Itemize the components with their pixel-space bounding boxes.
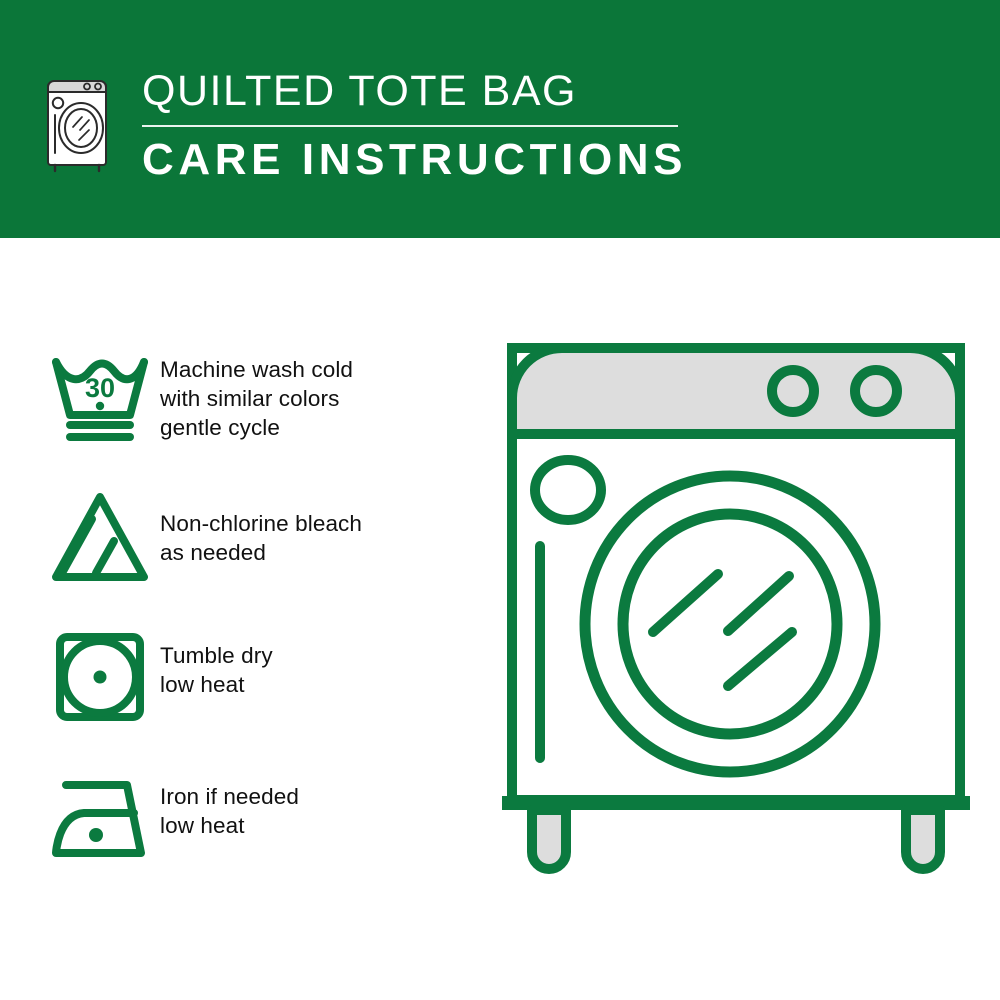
care-instructions-page: QUILTED TOTE BAG CARE INSTRUCTIONS bbox=[0, 0, 1000, 1000]
care-instruction-list: 30 Machine wash cold with similar colors… bbox=[48, 344, 478, 904]
care-text-line: Iron if needed bbox=[160, 782, 478, 811]
wash-basin-30-icon: 30 bbox=[48, 344, 160, 450]
page-title-primary: QUILTED TOTE BAG bbox=[142, 66, 687, 116]
care-item-iron: Iron if needed low heat bbox=[48, 764, 478, 904]
care-text-line: Machine wash cold bbox=[160, 355, 478, 384]
care-item-text: Non-chlorine bleach as needed bbox=[160, 484, 478, 567]
care-text-line: with similar colors bbox=[160, 384, 478, 413]
wash-temperature-label: 30 bbox=[85, 373, 115, 403]
care-text-line: Non-chlorine bleach bbox=[160, 509, 478, 538]
header-content: QUILTED TOTE BAG CARE INSTRUCTIONS bbox=[44, 66, 687, 185]
header-title-block: QUILTED TOTE BAG CARE INSTRUCTIONS bbox=[142, 66, 687, 185]
care-text-line: gentle cycle bbox=[160, 413, 478, 442]
tumble-dry-low-icon bbox=[48, 624, 160, 730]
care-text-line: Tumble dry bbox=[160, 641, 478, 670]
care-item-text: Tumble dry low heat bbox=[160, 624, 478, 699]
care-item-machine-wash: 30 Machine wash cold with similar colors… bbox=[48, 344, 478, 484]
iron-low-heat-icon bbox=[48, 764, 160, 870]
washing-machine-icon bbox=[44, 70, 116, 174]
care-item-bleach: Non-chlorine bleach as needed bbox=[48, 484, 478, 624]
care-text-line: low heat bbox=[160, 811, 478, 840]
non-chlorine-bleach-triangle-icon bbox=[48, 484, 160, 590]
front-load-washing-machine-illustration bbox=[496, 334, 976, 930]
care-item-text: Iron if needed low heat bbox=[160, 764, 478, 840]
care-text-line: as needed bbox=[160, 538, 478, 567]
header-band: QUILTED TOTE BAG CARE INSTRUCTIONS bbox=[0, 0, 1000, 238]
care-item-text: Machine wash cold with similar colors ge… bbox=[160, 344, 478, 442]
care-text-line: low heat bbox=[160, 670, 478, 699]
care-item-tumble-dry: Tumble dry low heat bbox=[48, 624, 478, 764]
page-title-secondary: CARE INSTRUCTIONS bbox=[142, 135, 687, 185]
title-divider bbox=[142, 125, 678, 127]
